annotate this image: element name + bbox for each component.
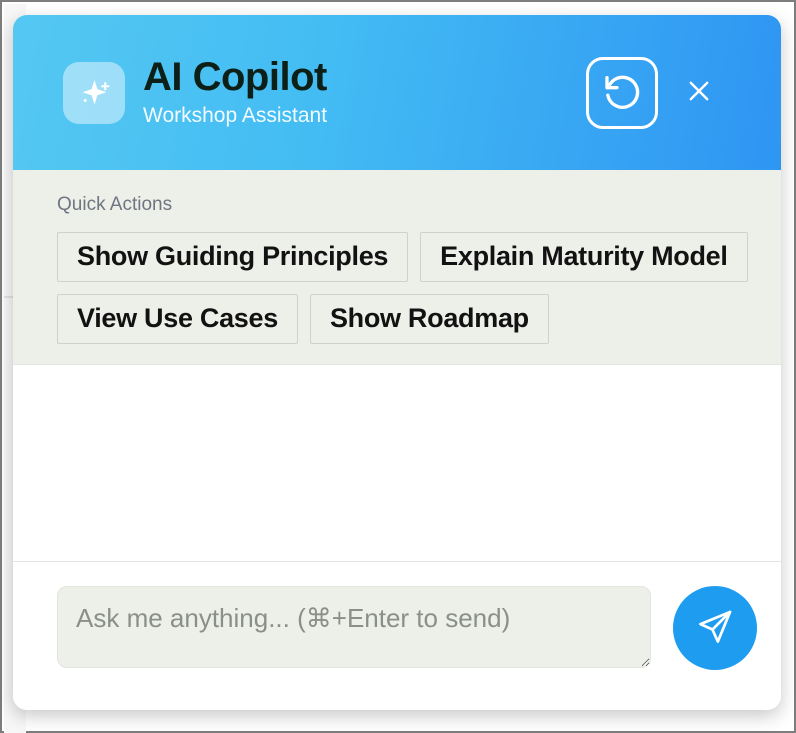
quick-action-show-guiding-principles[interactable]: Show Guiding Principles xyxy=(57,232,408,282)
panel-header: AI Copilot Workshop Assistant xyxy=(13,15,781,170)
close-button[interactable] xyxy=(679,73,719,113)
brand-text: AI Copilot Workshop Assistant xyxy=(143,57,587,129)
quick-action-view-use-cases[interactable]: View Use Cases xyxy=(57,294,298,344)
app-subtitle: Workshop Assistant xyxy=(143,103,587,128)
paper-plane-send-icon xyxy=(696,608,734,649)
composer xyxy=(13,562,781,710)
quick-actions-label: Quick Actions xyxy=(57,194,759,216)
reset-button[interactable] xyxy=(587,58,657,128)
close-x-icon xyxy=(685,77,713,108)
page-title: AI Copilot xyxy=(143,57,587,98)
quick-action-show-roadmap[interactable]: Show Roadmap xyxy=(310,294,549,344)
messages-area xyxy=(13,365,781,563)
quick-actions-list: Show Guiding Principles Explain Maturity… xyxy=(57,232,759,344)
sparkle-icon xyxy=(63,62,125,124)
reset-rotate-ccw-icon xyxy=(602,71,642,114)
message-input[interactable] xyxy=(57,586,651,668)
quick-action-explain-maturity-model[interactable]: Explain Maturity Model xyxy=(420,232,747,282)
quick-actions-section: Quick Actions Show Guiding Principles Ex… xyxy=(13,170,781,365)
ai-copilot-panel: AI Copilot Workshop Assistant xyxy=(13,15,781,710)
header-actions xyxy=(587,58,719,128)
send-button[interactable] xyxy=(673,586,757,670)
page-frame: AI Copilot Workshop Assistant xyxy=(0,0,796,733)
